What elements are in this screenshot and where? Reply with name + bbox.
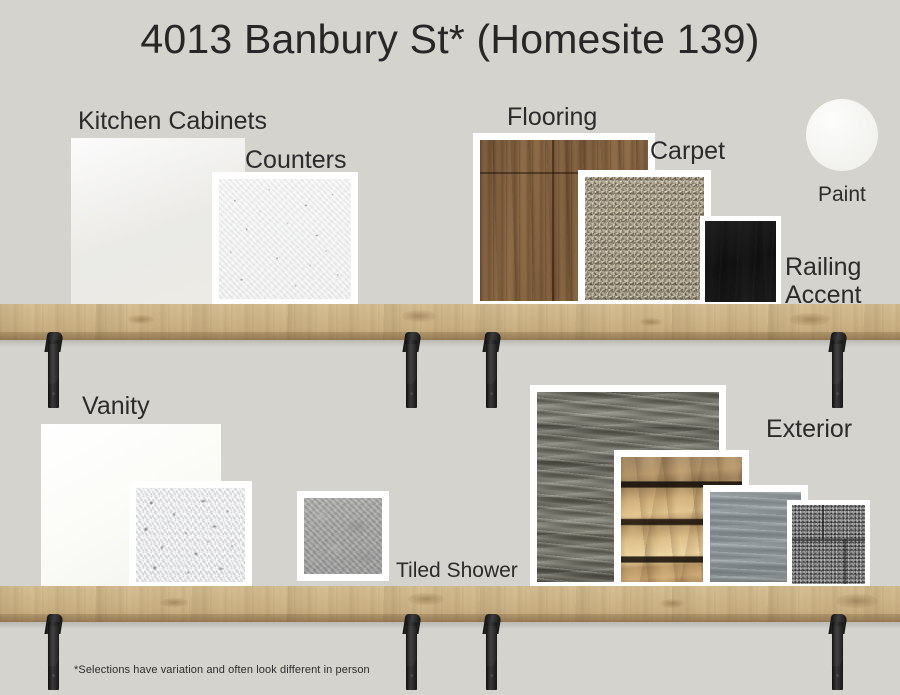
exterior-roof-shingle-texture	[792, 505, 865, 584]
vanity-top-swatch[interactable]	[129, 481, 252, 589]
carpet-label: Carpet	[650, 137, 725, 165]
upper-shelf-edge	[0, 332, 900, 340]
lower-shelf	[0, 586, 900, 622]
counters-texture	[219, 179, 351, 299]
railing-accent-label: Railing Accent	[785, 253, 861, 309]
upper-shelf-shadow	[0, 340, 900, 347]
tiled-shower-texture	[304, 498, 382, 574]
lower-bracket-mid-left	[404, 614, 420, 690]
flooring-label: Flooring	[507, 103, 597, 131]
carpet-texture	[585, 177, 704, 300]
paint-label: Paint	[818, 183, 866, 207]
lower-bracket-left	[46, 614, 62, 690]
upper-bracket-mid-left	[404, 332, 420, 408]
lower-bracket-right	[830, 614, 846, 690]
carpet-swatch[interactable]	[578, 170, 711, 307]
lower-shelf-shadow	[0, 622, 900, 629]
selections-design-board: 4013 Banbury St* (Homesite 139) Kitchen …	[0, 0, 900, 695]
lower-bracket-mid-right	[484, 614, 500, 690]
tiled-shower-swatch[interactable]	[297, 491, 389, 581]
counters-label: Counters	[245, 146, 346, 174]
exterior-roof-shingle-swatch[interactable]	[787, 500, 870, 589]
upper-shelf	[0, 304, 900, 340]
counters-swatch[interactable]	[212, 172, 358, 306]
exterior-label: Exterior	[766, 415, 852, 443]
upper-bracket-right	[830, 332, 846, 408]
railing-accent-label-line1: Railing	[785, 253, 861, 281]
railing-accent-swatch[interactable]	[700, 216, 781, 307]
disclaimer-footnote: *Selections have variation and often loo…	[74, 664, 370, 676]
vanity-top-texture	[136, 488, 245, 582]
upper-bracket-left	[46, 332, 62, 408]
upper-bracket-mid-right	[484, 332, 500, 408]
lower-shelf-edge	[0, 614, 900, 622]
railing-accent-texture	[705, 221, 776, 302]
kitchen-cabinets-label: Kitchen Cabinets	[78, 107, 267, 135]
tiled-shower-label: Tiled Shower	[396, 559, 518, 583]
vanity-label: Vanity	[82, 392, 150, 420]
paint-swatch[interactable]	[806, 99, 878, 171]
page-title: 4013 Banbury St* (Homesite 139)	[0, 16, 900, 63]
